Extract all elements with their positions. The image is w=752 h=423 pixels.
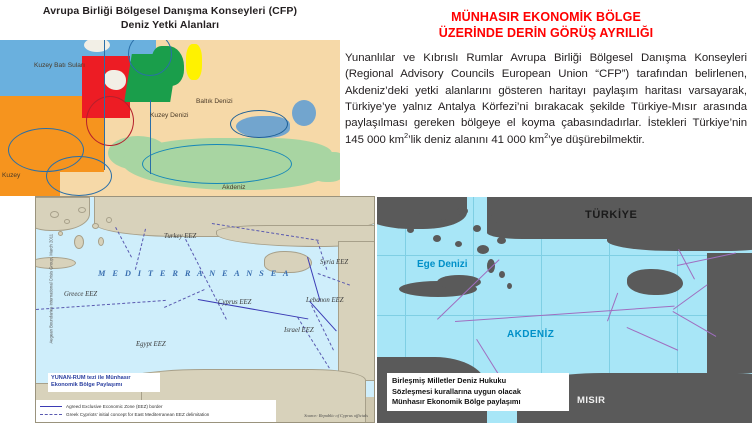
label-israel-eez: Israel EEZ [284, 327, 314, 335]
label-syria-eez: Syria EEZ [320, 259, 348, 267]
eez-sea-background: M E D I T E R R A N E A N S E A Turkey E… [36, 197, 375, 397]
eez-vertical-credit: Aegean Boundaries International Crisis G… [49, 248, 54, 344]
eez-source-credit: Source: Republic of Cyprus officials [304, 413, 368, 418]
aegean-island [507, 283, 512, 289]
legend-label-agreed: Agreed Exclusive Economic Zone (EEZ) bor… [66, 404, 163, 409]
aegean-island [50, 211, 59, 218]
label-mediterranean: Akdeniz [222, 184, 245, 191]
aegean-island [78, 207, 86, 213]
cfp-title-line-1: Avrupa Birliği Bölgesel Danışma Konseyle… [0, 4, 340, 18]
aegean-island [407, 227, 414, 233]
body-part-2: ’lik deniz alanını 41 000 km [408, 134, 544, 146]
label-ege-denizi: Ege Denizi [417, 259, 468, 270]
aegean-island [455, 241, 462, 247]
aegean-island [419, 211, 433, 220]
route-ring-5 [230, 110, 288, 138]
label-turkey-eez: Turkey EEZ [164, 233, 196, 240]
legend-label-concept: Greek Cypriots’ initial concept for East… [66, 412, 209, 417]
label-akdeniz: AKDENİZ [507, 329, 554, 340]
solid-line-icon [40, 406, 62, 407]
aegean-island [92, 223, 99, 229]
article-panel: MÜNHASIR EKONOMİK BÖLGE ÜZERİNDE DERİN G… [345, 10, 747, 190]
meridian-line-1 [104, 40, 105, 170]
cfp-title-line-2: Deniz Yetki Alanları [0, 18, 340, 32]
aegean-island [489, 215, 499, 223]
eez-dashed-border [36, 300, 166, 310]
cyprus-landmass [627, 269, 683, 295]
turkey-callout-line-2: Sözleşmesi kurallarına uygun olacak [392, 387, 564, 398]
aegean-island [497, 237, 506, 244]
aegean-island [499, 271, 505, 278]
aegean-island [74, 235, 84, 249]
legend-row-concept: Greek Cypriots’ initial concept for East… [40, 411, 272, 420]
cfp-map-image: Kuzey Batı Suları Baltık Denizi Kuzey De… [0, 40, 340, 196]
page-root: Avrupa Birliği Bölgesel Danışma Konseyle… [0, 0, 752, 423]
label-baltic-sea: Baltık Denizi [196, 98, 233, 105]
article-body: Yunanlılar ve Kıbrıslı Rumlar Avrupa Bir… [345, 50, 747, 148]
turkey-callout-line-1: Birleşmiş Milletler Deniz Hukuku [392, 376, 564, 387]
aegean-island [439, 219, 448, 226]
route-ring-3 [86, 96, 134, 146]
region-baltic-sea-zone [186, 44, 202, 80]
route-ring-6 [142, 144, 292, 184]
aegean-island [64, 219, 70, 224]
grid-line-horizontal [377, 255, 752, 256]
aegean-island [98, 237, 104, 246]
eez-boundary-line [627, 327, 679, 351]
body-part-3: ’ye düşürebilmektir. [548, 134, 645, 146]
aegean-island [473, 225, 481, 232]
eez-map-panel: M E D I T E R R A N E A N S E A Turkey E… [35, 196, 375, 423]
greece-landmass [35, 197, 90, 231]
caspian-sea-shape [292, 100, 316, 126]
levant-shape [306, 152, 340, 182]
turkey-map-panel: TÜRKİYE Ege Denizi AKDENİZ MISIR Birleşm… [377, 197, 752, 423]
headline-line-1: MÜNHASIR EKONOMİK BÖLGE [345, 10, 747, 26]
aegean-island [433, 235, 441, 242]
aegean-island [58, 231, 63, 236]
grid-line-horizontal [377, 315, 752, 316]
dashed-line-icon [40, 414, 62, 415]
eez-callout-line-1: YUNAN-RUM tezi ile Münhasır [51, 375, 157, 382]
aegean-island [106, 217, 112, 223]
label-map-edge: Kuzey [2, 172, 20, 179]
label-egypt-eez: Egypt EEZ [136, 341, 166, 348]
label-northwest-waters: Kuzey Batı Suları [34, 62, 85, 69]
eez-legend: Agreed Exclusive Economic Zone (EEZ) bor… [36, 400, 276, 422]
turkey-landmass-east [607, 225, 752, 251]
label-north-sea: Kuzey Denizi [150, 112, 188, 119]
eez-callout-box: YUNAN-RUM tezi ile Münhasır Ekonomik Böl… [48, 373, 160, 392]
eez-callout-line-2: Ekonomik Bölge Paylaşımı [51, 382, 157, 389]
label-lebanon-eez: Lebanon EEZ [306, 297, 344, 305]
route-ring-2 [46, 156, 112, 196]
turkey-callout-box: Birleşmiş Milletler Deniz Hukuku Sözleşm… [387, 373, 569, 411]
label-mediterranean-sea: M E D I T E R R A N E A N S E A [98, 269, 291, 278]
aegean-island [477, 245, 489, 254]
label-greece-eez: Greece EEZ [64, 291, 97, 298]
label-turkiye: TÜRKİYE [585, 209, 637, 221]
british-isles-shape [104, 70, 126, 90]
label-cyprus-eez: Cyprus EEZ [218, 299, 251, 306]
article-headline: MÜNHASIR EKONOMİK BÖLGE ÜZERİNDE DERİN G… [345, 10, 747, 41]
eez-agreed-border [307, 257, 321, 302]
turkey-callout-line-3: Münhasır Ekonomik Bölge paylaşımı [392, 397, 564, 408]
cfp-map-title: Avrupa Birliği Bölgesel Danışma Konseyle… [0, 4, 340, 32]
crete-landmass [35, 257, 76, 269]
eez-agreed-border [198, 299, 309, 320]
eez-boundary-line [455, 306, 675, 322]
cfp-map-panel: Avrupa Birliği Bölgesel Danışma Konseyle… [0, 0, 340, 196]
eez-dashed-border [185, 239, 227, 320]
legend-row-agreed: Agreed Exclusive Economic Zone (EEZ) bor… [40, 402, 272, 411]
levant-landmass [707, 253, 752, 373]
headline-line-2: ÜZERİNDE DERİN GÖRÜŞ AYRILIĞI [345, 26, 747, 42]
aegean-island [457, 207, 468, 215]
eez-dashed-border [297, 317, 330, 368]
label-misir: MISIR [577, 395, 605, 406]
